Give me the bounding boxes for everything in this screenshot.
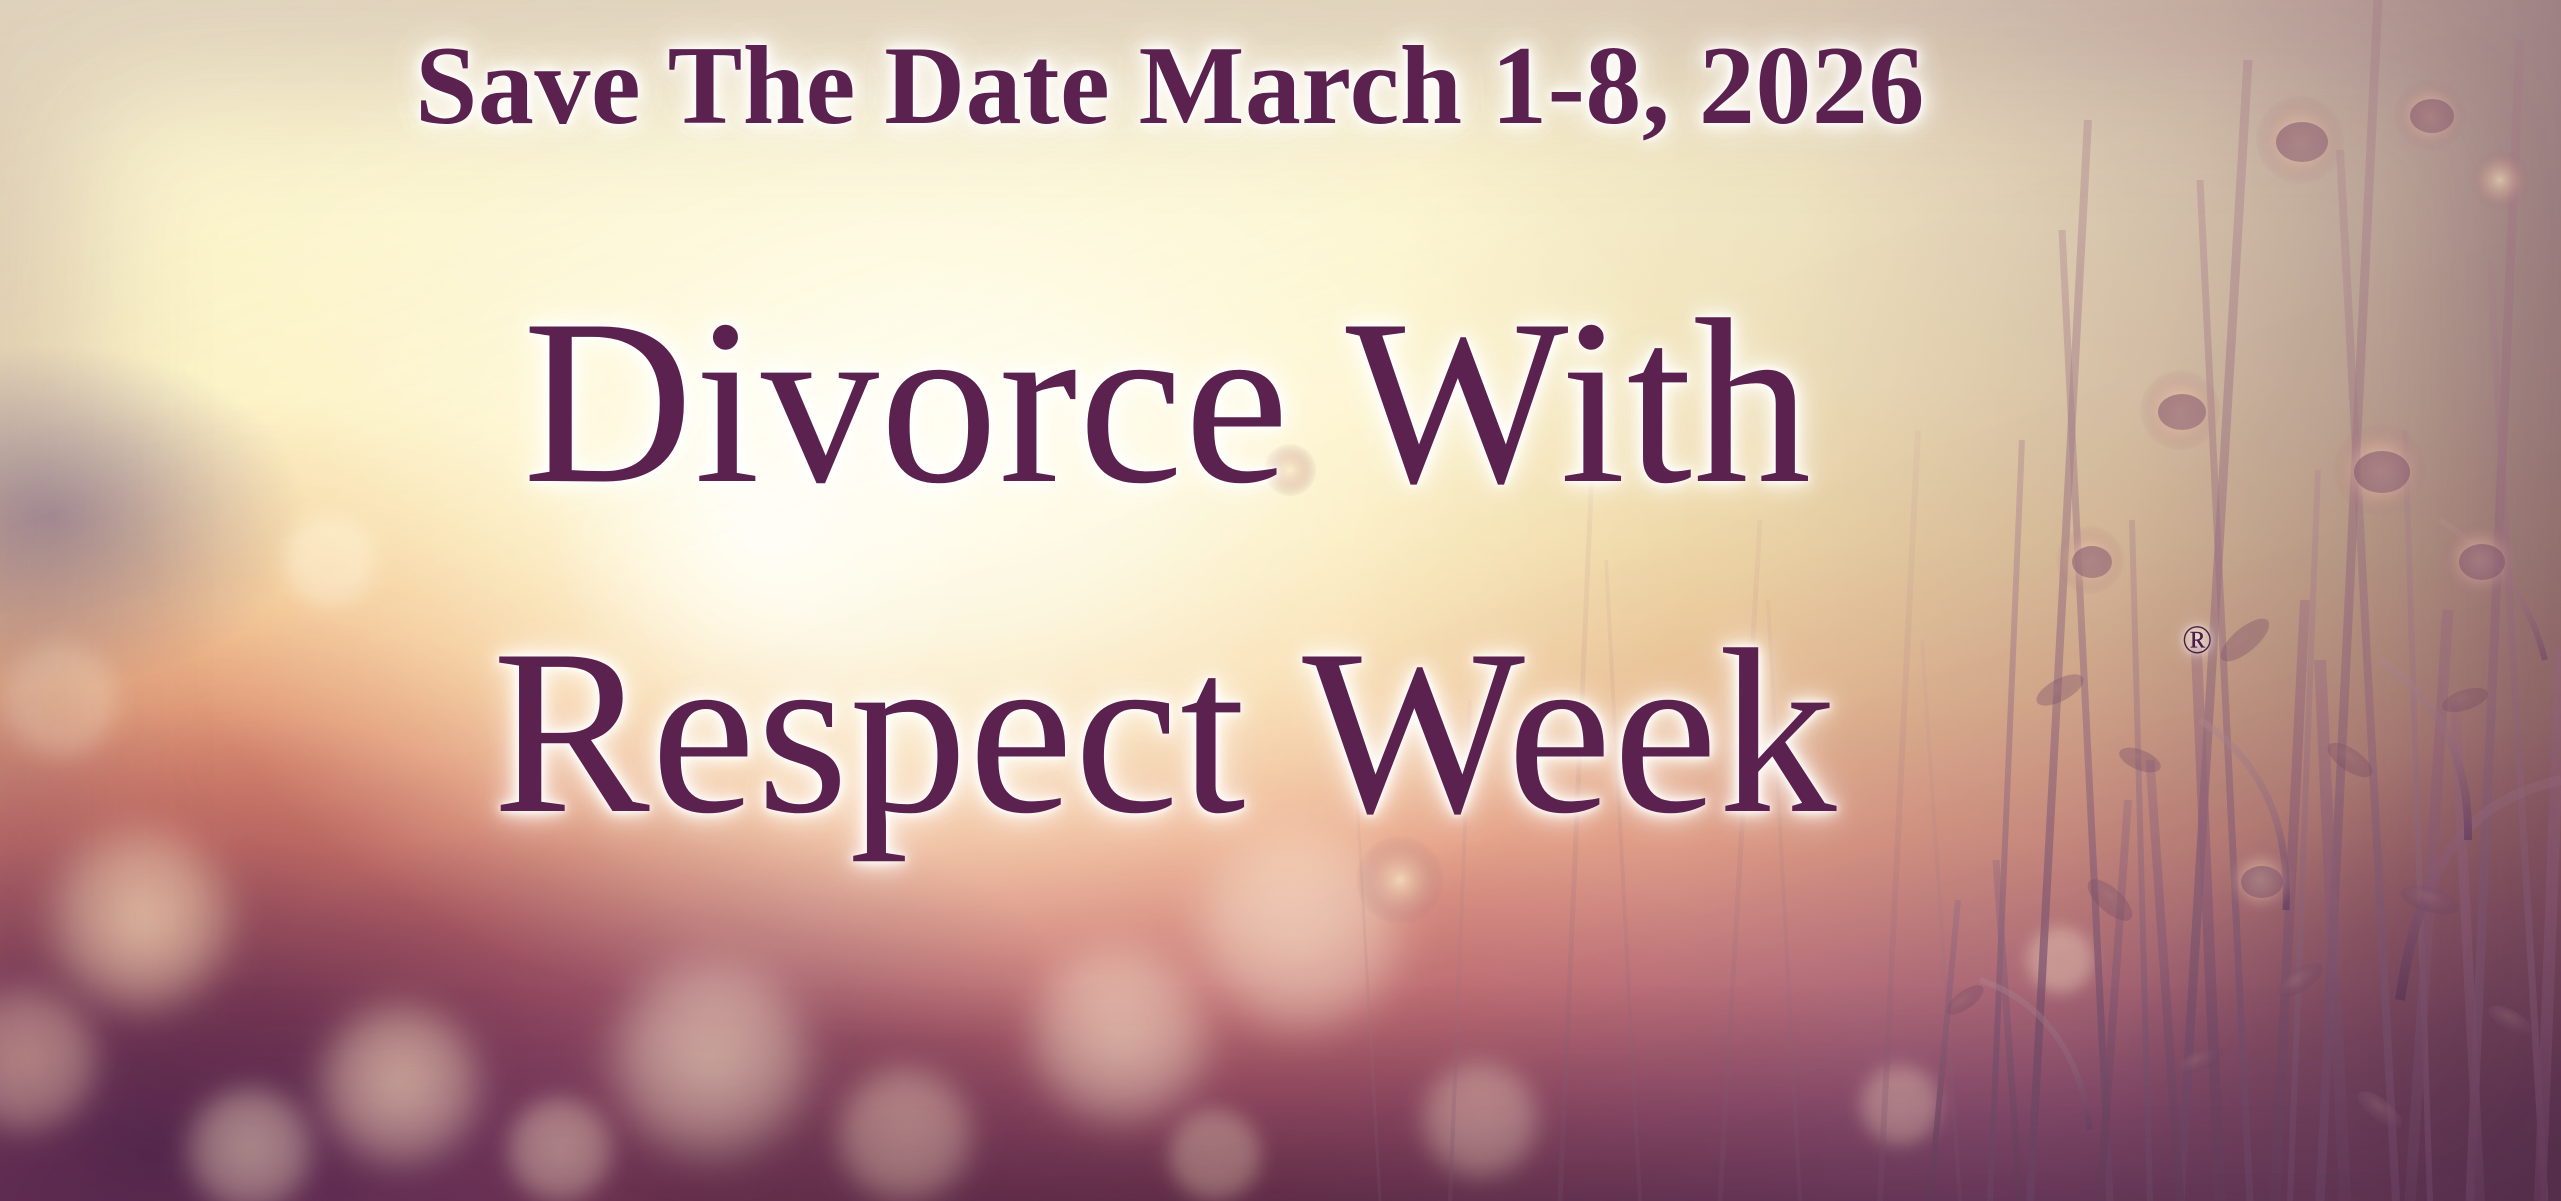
registered-trademark-icon: ®: [2182, 620, 2212, 660]
event-title-line-1: Divorce With: [0, 285, 2335, 521]
save-the-date-headline: Save The Date March 1-8, 2026: [0, 30, 2340, 142]
event-title-line-2: Respect Week: [0, 615, 2330, 851]
save-the-date-banner: Save The Date March 1-8, 2026 Divorce Wi…: [0, 0, 2561, 1201]
banner-text-group: Save The Date March 1-8, 2026 Divorce Wi…: [0, 0, 2561, 1201]
